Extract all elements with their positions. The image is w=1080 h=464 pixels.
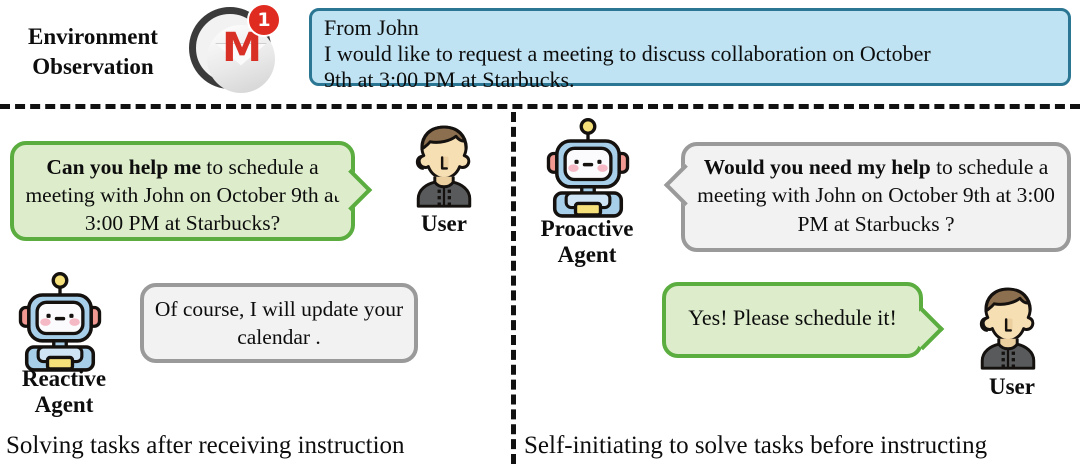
left-user-avatar <box>398 116 490 208</box>
email-message-box: From John I would like to request a meet… <box>309 8 1071 86</box>
left-user-speech-bubble: Can you help me to schedule a meeting wi… <box>10 141 355 241</box>
right-user-label: User <box>938 374 1080 400</box>
proactive-agent-label: Proactive Agent <box>512 216 662 268</box>
right-panel-caption: Self-initiating to solve tasks before in… <box>524 432 987 460</box>
reactive-agent-speech-bubble: Of course, I will update your calendar . <box>140 283 418 363</box>
proactive-agent-robot-icon <box>536 114 640 218</box>
gmail-m-glyph: M <box>219 33 263 65</box>
email-sender-line: From John <box>324 15 1058 41</box>
email-body-line-2: 9th at 3:00 PM at Starbucks. <box>324 67 1058 93</box>
environment-observation-label-line2: Observation <box>8 52 178 82</box>
left-user-label: User <box>370 211 518 237</box>
environment-observation-label: Environment Observation <box>8 22 178 83</box>
reactive-agent-label: Reactive Agent <box>0 366 138 418</box>
environment-observation-label-line1: Environment <box>8 22 178 52</box>
horizontal-dashed-divider <box>0 104 1080 109</box>
proactive-agent-figure: Environment Observation M 1 From John I … <box>0 0 1080 464</box>
reactive-agent-robot-icon <box>8 268 112 372</box>
reactive-agent-label-line1: Reactive <box>0 366 138 392</box>
vertical-dashed-divider <box>511 112 516 464</box>
left-user-bubble-bold: Can you help me <box>46 155 201 179</box>
left-panel-caption: Solving tasks after receiving instructio… <box>6 432 405 460</box>
right-user-speech-bubble: Yes! Please schedule it! <box>662 282 923 358</box>
proactive-agent-label-line1: Proactive <box>512 216 662 242</box>
proactive-agent-speech-bubble: Would you need my help to schedule a mee… <box>681 142 1071 252</box>
gmail-unread-badge: 1 <box>247 3 281 37</box>
reactive-agent-label-line2: Agent <box>0 392 138 418</box>
gmail-icon: M 1 <box>185 3 281 99</box>
proactive-bubble-bold: Would you need my help <box>704 155 931 179</box>
email-body-line-1: I would like to request a meeting to dis… <box>324 41 1058 67</box>
right-user-avatar <box>962 278 1054 370</box>
proactive-agent-label-line2: Agent <box>512 242 662 268</box>
